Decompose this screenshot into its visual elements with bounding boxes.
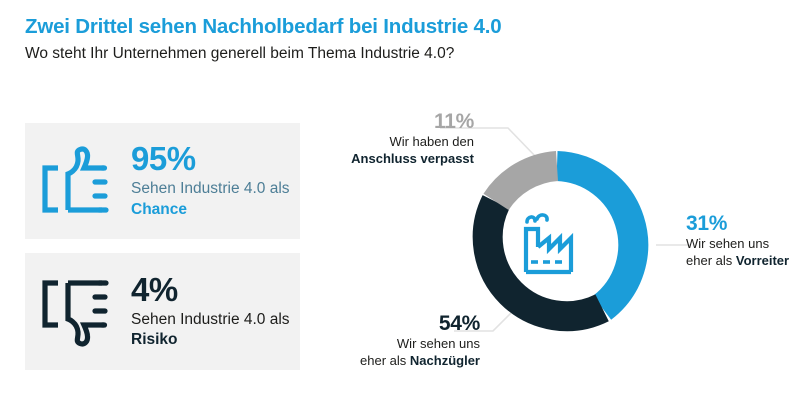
callout-desc-line1-verpasst: Wir haben den	[346, 134, 474, 151]
thumbs-down-icon	[38, 275, 116, 349]
stat-value-chance: 95%	[131, 142, 300, 176]
callout-desc-prefix-vorreiter: eher als	[686, 253, 736, 268]
thumbs-down-icon-wrap	[25, 275, 129, 349]
page-title: Zwei Drittel sehen Nachholbedarf bei Ind…	[25, 14, 765, 40]
page-subtitle: Wo steht Ihr Unternehmen generell beim T…	[25, 43, 765, 65]
stat-text-chance: 95% Sehen Industrie 4.0 als Chance	[129, 142, 300, 220]
callout-value-nachzuegler: 54%	[336, 312, 480, 336]
stat-desc-prefix-chance: Sehen Industrie 4.0 als	[131, 180, 290, 197]
callout-desc-emphasis-vorreiter: Vorreiter	[736, 253, 789, 268]
stat-desc-chance: Sehen Industrie 4.0 als Chance	[131, 179, 300, 220]
stat-desc-emphasis-chance: Chance	[131, 201, 187, 218]
stat-desc-emphasis-risiko: Risiko	[131, 331, 178, 348]
callout-vorreiter: 31% Wir sehen uns eher als Vorreiter	[686, 212, 798, 269]
stat-text-risiko: 4% Sehen Industrie 4.0 als Risiko	[129, 273, 300, 351]
callout-desc-line1-nachzuegler: Wir sehen uns	[336, 336, 480, 353]
callout-value-verpasst: 11%	[346, 110, 474, 134]
stat-value-risiko: 4%	[131, 273, 300, 307]
stat-desc-prefix-risiko: Sehen Industrie 4.0 als	[131, 311, 290, 328]
donut-segment-nachzuegler[interactable]	[488, 202, 602, 316]
callout-verpasst: 11% Wir haben den Anschluss verpasst	[346, 110, 474, 167]
stat-card-risiko: 4% Sehen Industrie 4.0 als Risiko	[25, 253, 300, 370]
callout-desc-vorreiter: Wir sehen uns eher als Vorreiter	[686, 236, 798, 269]
callout-nachzuegler: 54% Wir sehen uns eher als Nachzügler	[336, 312, 480, 369]
callout-desc-emphasis-nachzuegler: Nachzügler	[410, 353, 480, 368]
stat-desc-risiko: Sehen Industrie 4.0 als Risiko	[131, 310, 300, 351]
callout-value-vorreiter: 31%	[686, 212, 798, 236]
callout-desc-nachzuegler: Wir sehen uns eher als Nachzügler	[336, 336, 480, 369]
callout-desc-prefix-nachzuegler: eher als	[360, 353, 410, 368]
donut-segment-vorreiter[interactable]	[557, 166, 633, 308]
donut-segment-verpasst[interactable]	[496, 166, 557, 202]
header: Zwei Drittel sehen Nachholbedarf bei Ind…	[25, 14, 765, 65]
thumbs-up-icon-wrap	[25, 144, 129, 218]
thumbs-up-icon	[38, 144, 116, 218]
stat-card-chance: 95% Sehen Industrie 4.0 als Chance	[25, 123, 300, 239]
callout-desc-line1-vorreiter: Wir sehen uns	[686, 236, 798, 253]
callout-desc-line2-verpasst: Anschluss verpasst	[351, 151, 474, 166]
callout-desc-verpasst: Wir haben den Anschluss verpasst	[346, 134, 474, 167]
factory-icon	[526, 215, 571, 272]
